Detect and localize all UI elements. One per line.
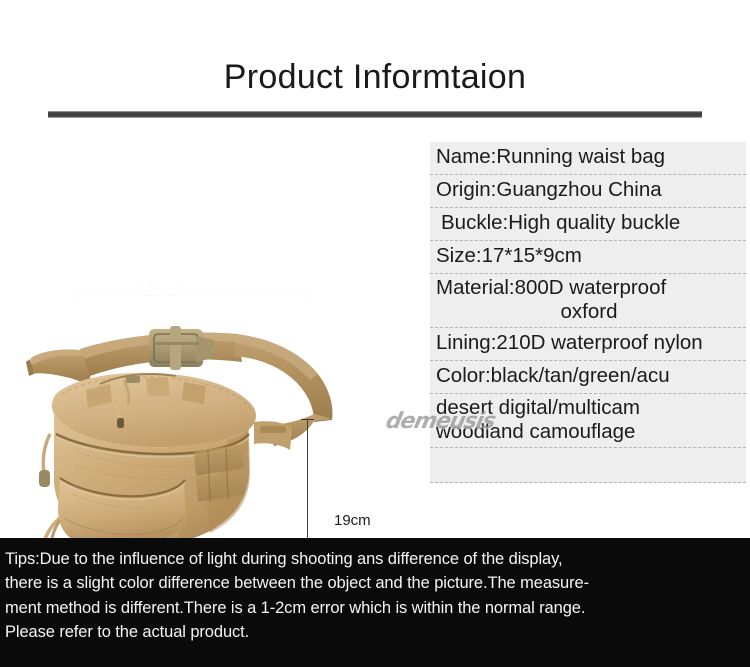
tips-line-4: Please refer to the actual product. <box>5 620 744 644</box>
spec-row-color-continued: desert digital/multicam woodland camoufl… <box>430 394 746 448</box>
height-dimension-label: 19cm <box>334 512 371 529</box>
spec-origin-value: Origin:Guangzhou China <box>436 179 662 202</box>
spec-row-size: Size:17*15*9cm <box>430 241 746 274</box>
spec-lining-value: Lining:210D waterproof nylon <box>436 332 703 355</box>
spec-row-material: Material:800D waterproof oxford <box>430 274 746 328</box>
spec-row-empty <box>430 448 746 483</box>
header-divider <box>48 111 702 118</box>
tips-line-3: ment method is different.There is a 1-2c… <box>5 596 744 620</box>
spec-color-line3: woodland camouflage <box>436 420 742 444</box>
page-title: Product Informtaion <box>0 58 750 97</box>
spec-color-line2: desert digital/multicam <box>436 396 742 420</box>
page-header: Product Informtaion <box>0 0 750 130</box>
spec-material-line1: Material:800D waterproof <box>436 276 742 300</box>
tips-line-2: there is a slight color difference betwe… <box>5 571 744 595</box>
specification-panel: Name:Running waist bag Origin:Guangzhou … <box>430 142 746 483</box>
product-photo-area: 120mm <box>0 132 424 532</box>
zipper-pull-left-upper <box>39 434 50 487</box>
top-dimension-label: 120mm <box>135 279 188 296</box>
spec-row-color: Color:black/tan/green/acu <box>430 361 746 394</box>
tips-banner: Tips:Due to the influence of light durin… <box>0 538 750 667</box>
spec-color-value: Color:black/tan/green/acu <box>436 365 670 388</box>
spec-row-lining: Lining:210D waterproof nylon <box>430 328 746 361</box>
spec-row-name: Name:Running waist bag <box>430 142 746 175</box>
spec-name-value: Name:Running waist bag <box>436 146 665 169</box>
spec-row-origin: Origin:Guangzhou China <box>430 175 746 208</box>
tips-line-1: Tips:Due to the influence of light durin… <box>5 547 744 571</box>
spec-row-buckle: Buckle:High quality buckle <box>430 208 746 241</box>
tips-text: Tips:Due to the influence of light durin… <box>5 547 744 644</box>
spec-material-line2: oxford <box>436 300 742 324</box>
spec-size-value: Size:17*15*9cm <box>436 245 582 268</box>
spec-buckle-value: Buckle:High quality buckle <box>441 212 680 235</box>
top-dimension-line <box>72 295 308 296</box>
